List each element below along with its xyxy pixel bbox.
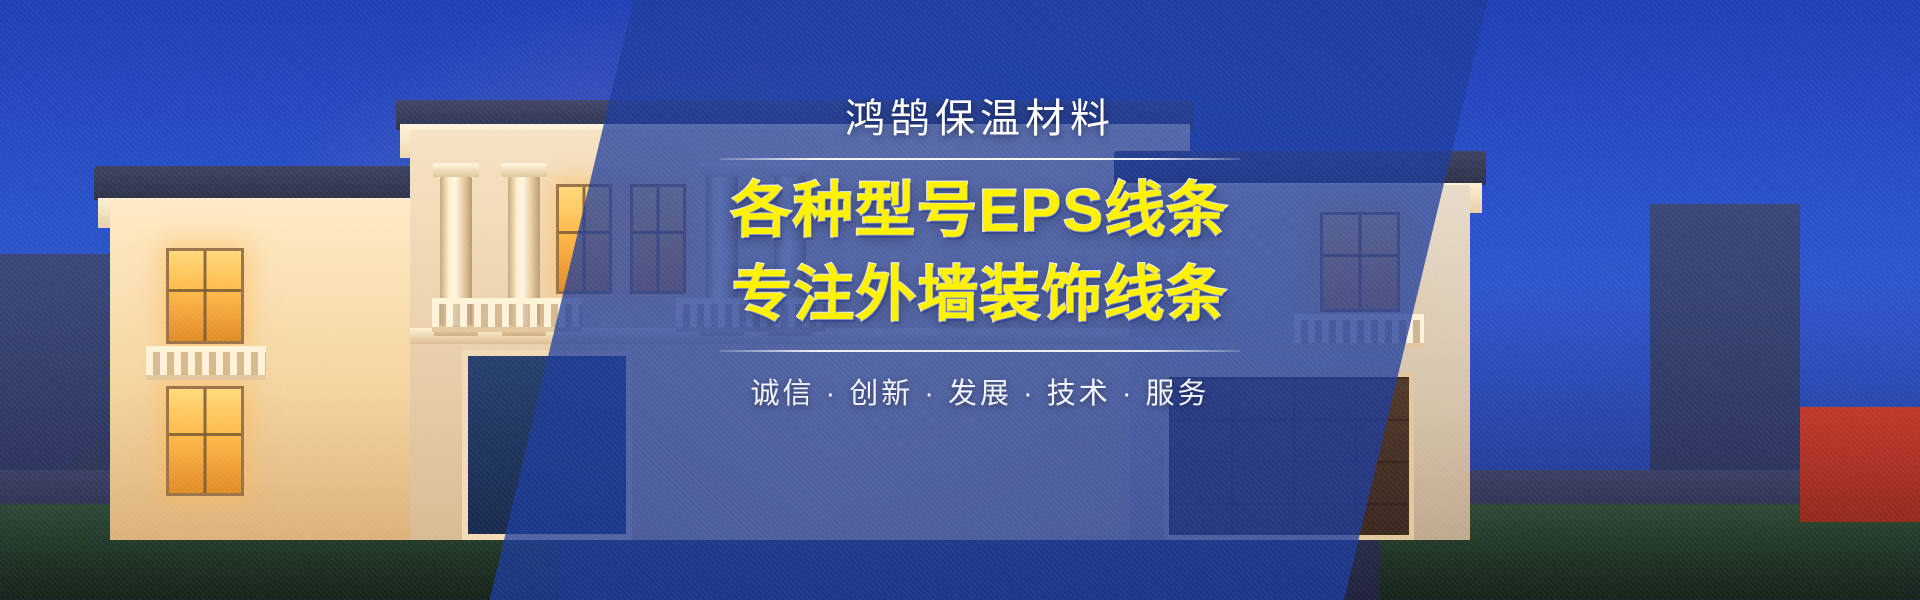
banner-copy: 鸿鹄保温材料 各种型号EPS线条 专注外墙装饰线条 诚信 · 创新 · 发展 ·… bbox=[690, 96, 1270, 412]
divider-bottom bbox=[720, 350, 1240, 352]
hero-banner: 鸿鹄保温材料 各种型号EPS线条 专注外墙装饰线条 诚信 · 创新 · 发展 ·… bbox=[0, 0, 1920, 600]
brand-name: 鸿鹄保温材料 bbox=[690, 96, 1270, 142]
window-left-lower bbox=[166, 386, 244, 496]
balustrade-left bbox=[146, 346, 266, 380]
window-left-upper bbox=[166, 248, 244, 344]
headline-line-2: 专注外墙装饰线条 bbox=[690, 262, 1270, 328]
tagline: 诚信 · 创新 · 发展 · 技术 · 服务 bbox=[690, 370, 1270, 412]
villa-roof-left bbox=[94, 166, 456, 200]
background-building-right bbox=[1650, 204, 1800, 504]
headline-line-1: 各种型号EPS线条 bbox=[690, 178, 1270, 244]
red-container bbox=[1800, 407, 1920, 522]
background-building-left bbox=[0, 254, 120, 504]
divider-top bbox=[720, 158, 1240, 160]
